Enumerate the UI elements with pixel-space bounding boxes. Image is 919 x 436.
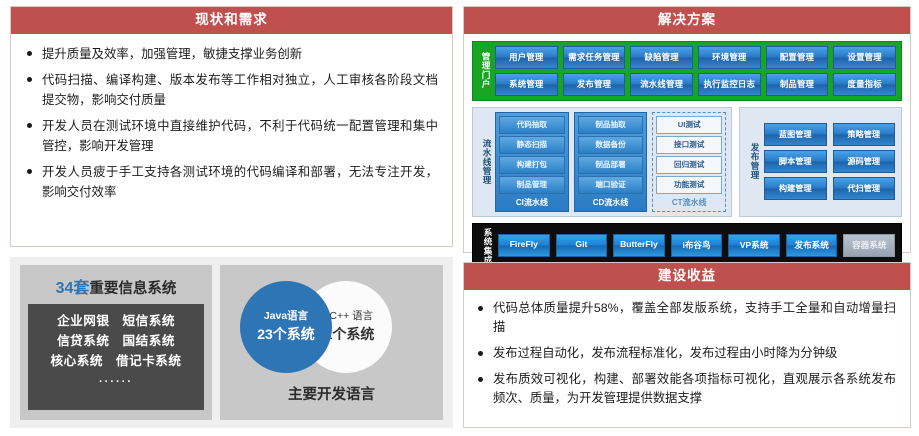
benefits-body: 代码总体质量提升58%，覆盖全部发版系统，支持手工全量和自动增量扫描 发布过程自… [464, 290, 910, 428]
list-item: 开发人员在测试环境中直接维护代码，不利于代码统一配置管理和集中管控，影响开发管理 [25, 116, 438, 156]
pipeline-and-release-row: 流水线管理 代码抽取 静态扫描 构建打包 制品管理 CI流水线 制品抽取 [472, 107, 902, 217]
release-button-strategy-management[interactable]: 策略管理 [833, 123, 896, 146]
pipeline-management-label: 流水线管理 [478, 139, 491, 185]
integration-item-vp-system[interactable]: VP系统 [728, 234, 780, 257]
benefits-bullet-list: 代码总体质量提升58%，覆盖全部发版系统，支持手工全量和自动增量扫描 发布过程自… [476, 299, 896, 409]
system-integration-items: FireFly Git ButterFly i布谷鸟 VP系统 发布系统 容器系… [498, 234, 895, 257]
venn-circle-java: Java语言 23个系统 [240, 281, 332, 373]
integration-item-git[interactable]: Git [556, 234, 608, 257]
solution-title: 解决方案 [464, 7, 910, 34]
portal-button-defect-management[interactable]: 缺陷管理 [630, 46, 693, 69]
systems-count: 34套 [56, 280, 90, 297]
venn-java-label: Java语言 [264, 309, 308, 325]
system-integration-label: 系统集成 [479, 228, 492, 264]
portal-button-configuration-management[interactable]: 配置管理 [766, 46, 829, 69]
release-button-grid: 蓝图管理 策略管理 脚本管理 源码管理 构建管理 代扫管理 [764, 123, 895, 200]
benefits-title: 建设收益 [464, 263, 910, 290]
systems-more-ellipsis: ······ [32, 374, 200, 392]
pipeline-name-cd: CD流水线 [578, 196, 644, 208]
list-item: 核心系统 借记卡系统 [32, 351, 200, 371]
language-card-caption: 主要开发语言 [288, 383, 375, 404]
portal-button-pipeline-management[interactable]: 流水线管理 [630, 73, 693, 96]
list-item: 发布过程自动化，发布流程标准化，发布过程由小时降为分钟级 [476, 344, 896, 364]
ci-step-static-scan[interactable]: 静态扫描 [499, 136, 565, 154]
list-item: 代码总体质量提升58%，覆盖全部发版系统，支持手工全量和自动增量扫描 [476, 299, 896, 338]
solution-body: 管理门户 用户管理 需求任务管理 缺陷管理 环境管理 配置管理 设置管理 系统管… [464, 34, 910, 276]
portal-button-environment-management[interactable]: 环境管理 [698, 46, 761, 69]
important-systems-card: 34套重要信息系统 企业网银 短信系统 信贷系统 国结系统 核心系统 借记卡系统… [20, 265, 212, 420]
release-button-source-code-management[interactable]: 源码管理 [833, 150, 896, 173]
integration-item-firefly[interactable]: FireFly [498, 234, 550, 257]
list-item: 开发人员疲于手工支持各测试环境的代码编译和部署，无法专注开发，影响交付效率 [25, 162, 438, 202]
list-item: 信贷系统 国结系统 [32, 331, 200, 351]
pipeline-management-group: 流水线管理 代码抽取 静态扫描 构建打包 制品管理 CI流水线 制品抽取 [472, 107, 732, 217]
portal-button-execution-monitoring-log[interactable]: 执行监控日志 [698, 73, 761, 96]
ct-step-ui-test[interactable]: UI测试 [656, 116, 722, 134]
pipeline-name-ct: CT流水线 [656, 196, 722, 208]
systems-heading-rest: 重要信息系统 [89, 281, 176, 297]
ct-step-function-test[interactable]: 功能测试 [656, 176, 722, 194]
ct-step-regression-test[interactable]: 回归测试 [656, 156, 722, 174]
venn-java-value: 23个系统 [257, 324, 315, 344]
development-language-card: C/C++ 语言 11个系统 Java语言 23个系统 主要开发语言 [220, 265, 443, 420]
management-portal-group: 管理门户 用户管理 需求任务管理 缺陷管理 环境管理 配置管理 设置管理 系统管… [472, 41, 902, 101]
list-item: 企业网银 短信系统 [32, 311, 200, 331]
release-button-blueprint-management[interactable]: 蓝图管理 [764, 123, 827, 146]
current-status-body: 提升质量及效率，加强管理，敏捷支撑业务创新 代码扫描、编译构建、版本发布等工作相… [11, 34, 452, 246]
pipeline-column-ct: UI测试 接口测试 回归测试 功能测试 CT流水线 [652, 112, 726, 212]
list-item: 发布质效可视化，构建、部署效能各项指标可视化，直观展示各系统发布频次、质量，为开… [476, 370, 896, 409]
portal-button-user-management[interactable]: 用户管理 [495, 46, 558, 69]
right-column: 解决方案 管理门户 用户管理 需求任务管理 缺陷管理 环境管理 配置管理 设置管… [463, 6, 911, 428]
language-venn-diagram: C/C++ 语言 11个系统 Java语言 23个系统 [226, 273, 437, 381]
management-portal-label: 管理门户 [478, 52, 490, 88]
current-status-bullet-list: 提升质量及效率，加强管理，敏捷支撑业务创新 代码扫描、编译构建、版本发布等工作相… [25, 44, 438, 203]
list-item: 代码扫描、编译构建、版本发布等工作相对独立，人工审核各阶段文档提交物，影响交付质… [25, 70, 438, 110]
management-portal-button-grid: 用户管理 需求任务管理 缺陷管理 环境管理 配置管理 设置管理 系统管理 发布管… [495, 46, 896, 96]
ci-step-code-extraction[interactable]: 代码抽取 [499, 116, 565, 134]
portal-button-metrics[interactable]: 度量指标 [833, 73, 896, 96]
systems-heading: 34套重要信息系统 [56, 274, 177, 298]
pipeline-column-cd: 制品抽取 数据备份 制品部署 端口验证 CD流水线 [574, 112, 648, 212]
pipeline-column-ci: 代码抽取 静态扫描 构建打包 制品管理 CI流水线 [495, 112, 569, 212]
cd-step-port-verification[interactable]: 端口验证 [578, 176, 644, 194]
pipeline-name-ci: CI流水线 [499, 196, 565, 208]
release-management-group: 发布管理 蓝图管理 策略管理 脚本管理 源码管理 构建管理 代扫管理 [739, 107, 902, 217]
portal-button-requirement-task-management[interactable]: 需求任务管理 [563, 46, 626, 69]
integration-item-cuckoo[interactable]: i布谷鸟 [671, 234, 723, 257]
ct-step-interface-test[interactable]: 接口测试 [656, 136, 722, 154]
portal-button-settings-management[interactable]: 设置管理 [833, 46, 896, 69]
left-column: 现状和需求 提升质量及效率，加强管理，敏捷支撑业务创新 代码扫描、编译构建、版本… [10, 6, 453, 428]
ci-step-artifact-management[interactable]: 制品管理 [499, 176, 565, 194]
release-button-build-management[interactable]: 构建管理 [764, 177, 827, 200]
release-button-script-management[interactable]: 脚本管理 [764, 150, 827, 173]
cd-step-artifact-deploy[interactable]: 制品部署 [578, 156, 644, 174]
current-status-title: 现状和需求 [11, 7, 452, 34]
slide-root: 现状和需求 提升质量及效率，加强管理，敏捷支撑业务创新 代码扫描、编译构建、版本… [0, 0, 919, 436]
cd-step-data-backup[interactable]: 数据备份 [578, 136, 644, 154]
current-status-panel: 现状和需求 提升质量及效率，加强管理，敏捷支撑业务创新 代码扫描、编译构建、版本… [10, 6, 453, 247]
integration-item-container-system[interactable]: 容器系统 [843, 234, 895, 257]
portal-button-artifact-management[interactable]: 制品管理 [766, 73, 829, 96]
pipeline-columns: 代码抽取 静态扫描 构建打包 制品管理 CI流水线 制品抽取 数据备份 制品部署 [495, 112, 726, 212]
integration-item-butterfly[interactable]: ButterFly [613, 234, 665, 257]
cd-step-artifact-extraction[interactable]: 制品抽取 [578, 116, 644, 134]
portal-button-system-management[interactable]: 系统管理 [495, 73, 558, 96]
benefits-panel: 建设收益 代码总体质量提升58%，覆盖全部发版系统，支持手工全量和自动增量扫描 … [463, 262, 911, 428]
release-management-label: 发布管理 [746, 143, 759, 179]
solution-panel: 解决方案 管理门户 用户管理 需求任务管理 缺陷管理 环境管理 配置管理 设置管… [463, 6, 911, 253]
ci-step-build-package[interactable]: 构建打包 [499, 156, 565, 174]
list-item: 提升质量及效率，加强管理，敏捷支撑业务创新 [25, 44, 438, 64]
statistics-strip: 34套重要信息系统 企业网银 短信系统 信贷系统 国结系统 核心系统 借记卡系统… [10, 257, 453, 428]
systems-name-box: 企业网银 短信系统 信贷系统 国结系统 核心系统 借记卡系统 ······ [28, 304, 204, 410]
release-button-code-scan-management[interactable]: 代扫管理 [833, 177, 896, 200]
portal-button-release-management[interactable]: 发布管理 [563, 73, 626, 96]
integration-item-release-system[interactable]: 发布系统 [786, 234, 838, 257]
